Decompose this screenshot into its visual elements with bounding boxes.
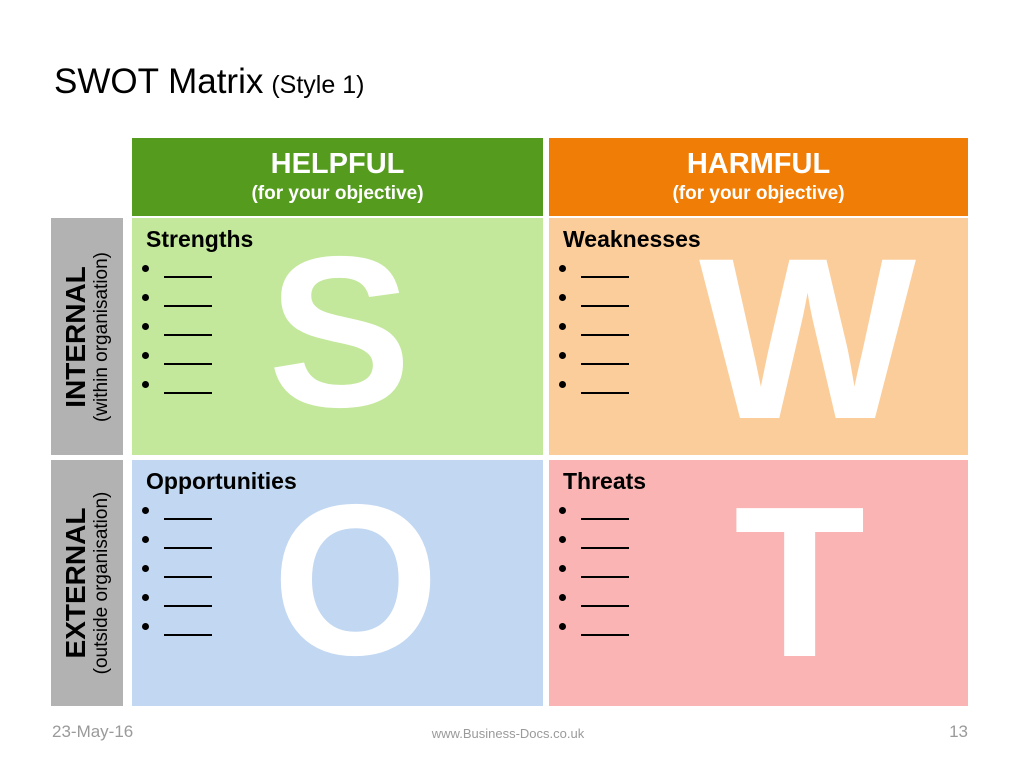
list-item[interactable]	[142, 255, 543, 284]
blank-line-placeholder	[581, 547, 629, 549]
bullet-dot-icon	[142, 507, 149, 514]
row-label-external: EXTERNAL (outside organisation)	[51, 460, 123, 706]
row-label-external-text: EXTERNAL (outside organisation)	[61, 492, 113, 675]
bullet-dot-icon	[559, 294, 566, 301]
bullet-dot-icon	[142, 623, 149, 630]
quadrant-opportunities-bullet-list	[142, 497, 543, 642]
quadrant-opportunities-title: Opportunities	[146, 468, 543, 495]
list-item[interactable]	[559, 584, 968, 613]
list-item[interactable]	[142, 555, 543, 584]
quadrant-strengths[interactable]: S Strengths	[132, 218, 543, 455]
blank-line-placeholder	[581, 392, 629, 394]
blank-line-placeholder	[581, 576, 629, 578]
list-item[interactable]	[559, 284, 968, 313]
blank-line-placeholder	[164, 334, 212, 336]
blank-line-placeholder	[581, 276, 629, 278]
footer-page-number: 13	[949, 722, 968, 742]
swot-matrix: HELPFUL (for your objective) HARMFUL (fo…	[51, 138, 968, 706]
bullet-dot-icon	[142, 594, 149, 601]
quadrant-threats-bullet-list	[559, 497, 968, 642]
blank-line-placeholder	[581, 305, 629, 307]
bullet-dot-icon	[559, 507, 566, 514]
blank-line-placeholder	[164, 547, 212, 549]
footer-website: www.Business-Docs.co.uk	[0, 726, 1016, 741]
page-title-style-suffix: (Style 1)	[271, 71, 364, 99]
column-header-harmful-title: HARMFUL	[549, 147, 968, 181]
quadrant-weaknesses-title: Weaknesses	[563, 226, 968, 253]
row-label-internal-subtitle: (within organisation)	[91, 251, 113, 421]
blank-line-placeholder	[581, 363, 629, 365]
row-label-internal: INTERNAL (within organisation)	[51, 218, 123, 455]
list-item[interactable]	[559, 255, 968, 284]
bullet-dot-icon	[142, 294, 149, 301]
bullet-dot-icon	[142, 323, 149, 330]
quadrant-opportunities[interactable]: O Opportunities	[132, 460, 543, 706]
column-header-harmful: HARMFUL (for your objective)	[549, 138, 968, 216]
bullet-dot-icon	[142, 265, 149, 272]
quadrant-weaknesses[interactable]: W Weaknesses	[549, 218, 968, 455]
column-header-helpful-title: HELPFUL	[132, 147, 543, 181]
slide-footer: 23-May-16 www.Business-Docs.co.uk 13	[0, 722, 1016, 746]
bullet-dot-icon	[559, 381, 566, 388]
bullet-dot-icon	[559, 265, 566, 272]
list-item[interactable]	[559, 497, 968, 526]
bullet-dot-icon	[142, 352, 149, 359]
blank-line-placeholder	[581, 605, 629, 607]
list-item[interactable]	[559, 555, 968, 584]
blank-line-placeholder	[164, 276, 212, 278]
row-label-internal-title: INTERNAL	[61, 251, 91, 421]
quadrant-weaknesses-bullet-list	[559, 255, 968, 400]
bullet-dot-icon	[142, 381, 149, 388]
blank-line-placeholder	[164, 634, 212, 636]
list-item[interactable]	[142, 342, 543, 371]
bullet-dot-icon	[142, 536, 149, 543]
blank-line-placeholder	[164, 576, 212, 578]
quadrant-threats-title: Threats	[563, 468, 968, 495]
column-header-helpful: HELPFUL (for your objective)	[132, 138, 543, 216]
blank-line-placeholder	[581, 518, 629, 520]
list-item[interactable]	[559, 313, 968, 342]
blank-line-placeholder	[164, 605, 212, 607]
blank-line-placeholder	[581, 634, 629, 636]
list-item[interactable]	[142, 497, 543, 526]
row-label-external-subtitle: (outside organisation)	[91, 492, 113, 675]
column-header-helpful-subtitle: (for your objective)	[132, 181, 543, 206]
row-label-external-title: EXTERNAL	[61, 492, 91, 675]
quadrant-strengths-title: Strengths	[146, 226, 543, 253]
list-item[interactable]	[142, 584, 543, 613]
bullet-dot-icon	[142, 565, 149, 572]
bullet-dot-icon	[559, 623, 566, 630]
blank-line-placeholder	[164, 305, 212, 307]
blank-line-placeholder	[581, 334, 629, 336]
blank-line-placeholder	[164, 518, 212, 520]
list-item[interactable]	[142, 284, 543, 313]
page-title-main: SWOT Matrix	[54, 62, 263, 101]
bullet-dot-icon	[559, 323, 566, 330]
bullet-dot-icon	[559, 594, 566, 601]
quadrant-threats[interactable]: T Threats	[549, 460, 968, 706]
list-item[interactable]	[559, 613, 968, 642]
blank-line-placeholder	[164, 363, 212, 365]
list-item[interactable]	[142, 371, 543, 400]
column-header-harmful-subtitle: (for your objective)	[549, 181, 968, 206]
list-item[interactable]	[142, 613, 543, 642]
list-item[interactable]	[559, 342, 968, 371]
list-item[interactable]	[142, 526, 543, 555]
bullet-dot-icon	[559, 536, 566, 543]
quadrant-strengths-bullet-list	[142, 255, 543, 400]
bullet-dot-icon	[559, 352, 566, 359]
page-title: SWOT Matrix(Style 1)	[54, 62, 364, 102]
list-item[interactable]	[559, 526, 968, 555]
blank-line-placeholder	[164, 392, 212, 394]
bullet-dot-icon	[559, 565, 566, 572]
row-label-internal-text: INTERNAL (within organisation)	[61, 251, 113, 421]
list-item[interactable]	[142, 313, 543, 342]
list-item[interactable]	[559, 371, 968, 400]
